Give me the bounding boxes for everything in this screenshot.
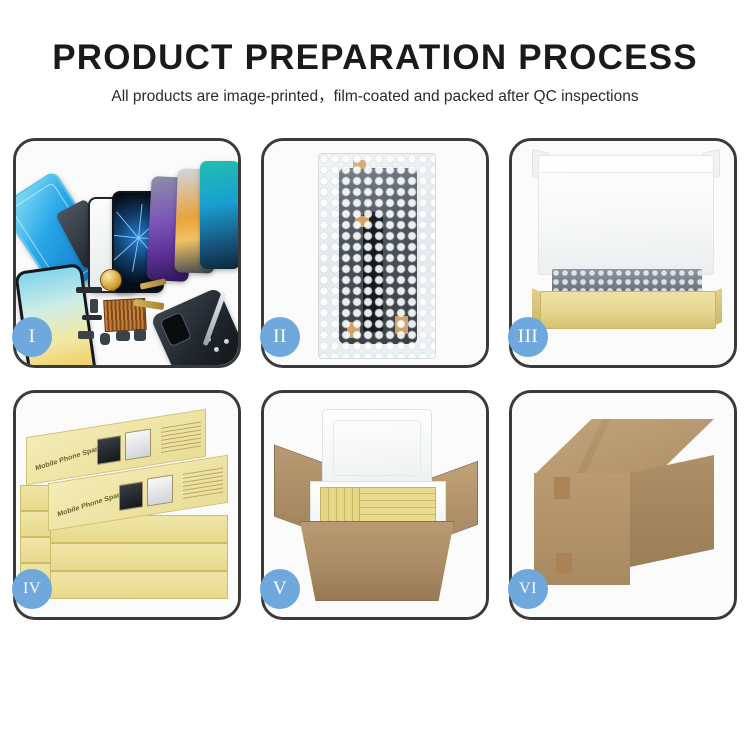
carton-tape-graphic xyxy=(554,477,570,499)
small-part-graphic xyxy=(78,331,94,339)
page-title: PRODUCT PREPARATION PROCESS xyxy=(0,38,750,78)
teal-phone-graphic xyxy=(200,161,238,269)
phone-back-housing-graphic xyxy=(150,287,238,365)
bubble-wrap-bag-graphic xyxy=(318,153,436,359)
box-lid-product-image xyxy=(119,481,143,511)
page-subtitle: All products are image-printed，film-coat… xyxy=(0,86,750,108)
small-part-graphic xyxy=(100,333,110,345)
speaker-module-graphic xyxy=(100,269,122,291)
step-badge-2: II xyxy=(260,317,300,357)
process-step-panel-5[interactable]: V xyxy=(261,390,489,620)
process-step-panel-4[interactable]: Mobile Phone Spare Parts Mobile Phone Sp… xyxy=(13,390,241,620)
foam-lid-graphic xyxy=(322,409,432,489)
stacked-box xyxy=(50,571,228,599)
box-lid-product-image xyxy=(125,428,151,460)
chip-graphic xyxy=(76,287,102,293)
step-badge-6: VI xyxy=(508,569,548,609)
chip-graphic xyxy=(82,315,102,320)
box-lid-spec-lines xyxy=(161,421,201,453)
small-part-graphic xyxy=(116,331,130,341)
carton-body-graphic xyxy=(300,521,454,601)
screw-graphic xyxy=(224,339,229,344)
carton-right-face-graphic xyxy=(630,455,714,567)
process-step-panel-2[interactable]: II xyxy=(261,138,489,368)
process-step-panel-3[interactable]: III xyxy=(509,138,737,368)
step-badge-1: I xyxy=(12,317,52,357)
page-header: PRODUCT PREPARATION PROCESS All products… xyxy=(0,0,750,108)
box-lid-product-image xyxy=(147,474,173,506)
bubble-texture-graphic xyxy=(319,154,435,358)
process-step-panel-1[interactable]: I xyxy=(13,138,241,368)
process-step-panel-6[interactable]: VI xyxy=(509,390,737,620)
box-lid-product-image xyxy=(97,435,121,465)
screw-graphic xyxy=(214,347,219,352)
carton-tape-graphic xyxy=(556,553,572,573)
step-badge-3: III xyxy=(508,317,548,357)
step-badge-4: IV xyxy=(12,569,52,609)
box-lid-spec-lines xyxy=(183,467,223,499)
box-stack-graphic: Mobile Phone Spare Parts Mobile Phone Sp… xyxy=(20,413,236,603)
small-part-graphic xyxy=(134,329,146,341)
yellow-box-front-graphic xyxy=(540,291,716,329)
stacked-box xyxy=(50,543,228,571)
process-step-grid: I II xyxy=(13,138,737,620)
small-part-graphic xyxy=(90,299,98,313)
step-badge-5: V xyxy=(260,569,300,609)
carton-left-face-graphic xyxy=(534,473,630,585)
white-foam-lid-graphic xyxy=(538,155,714,275)
